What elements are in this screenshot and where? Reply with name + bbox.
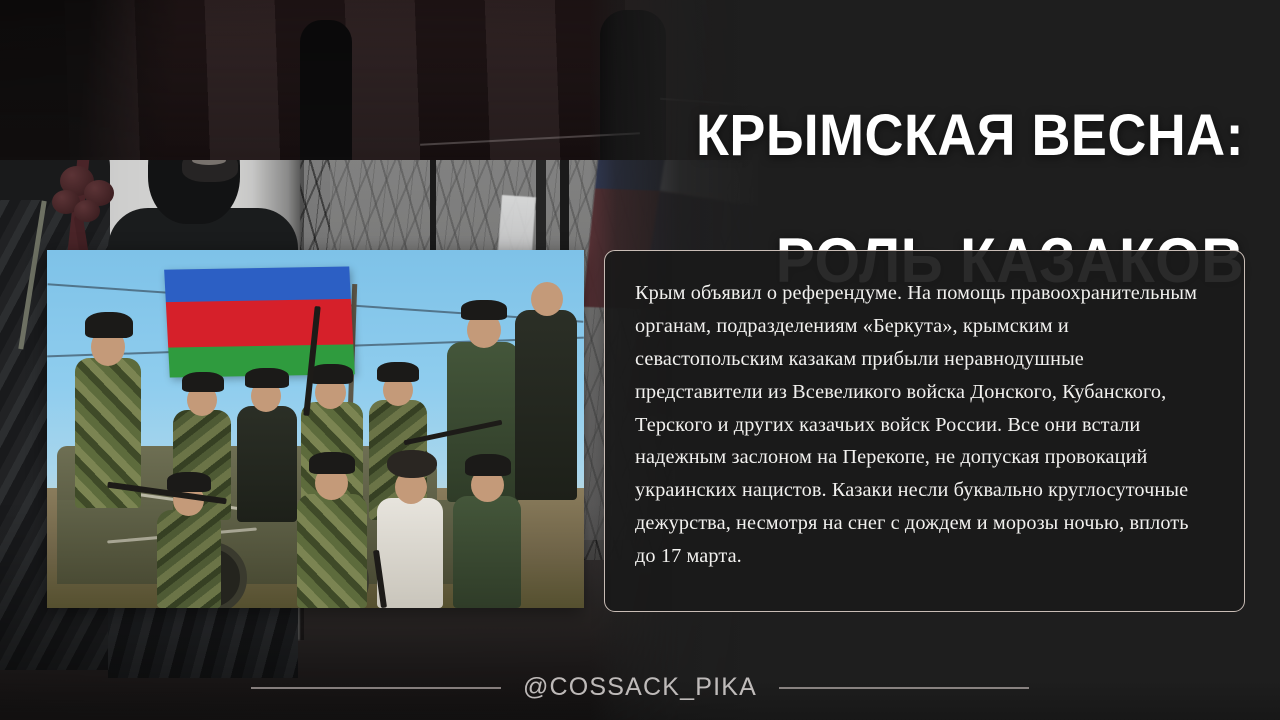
bottom-fade-overlay bbox=[0, 680, 1280, 720]
body-paragraph: Крым объявил о референдуме. На помощь пр… bbox=[635, 277, 1214, 573]
title-line-1: КРЫМСКАЯ ВЕСНА: bbox=[667, 105, 1244, 166]
inset-photo bbox=[47, 250, 584, 608]
don-cossack-flag bbox=[164, 266, 355, 377]
slide-root: КРЫМСКАЯ ВЕСНА: РОЛЬ КАЗАКОВ Крым объяви… bbox=[0, 0, 1280, 720]
body-text-box: Крым объявил о референдуме. На помощь пр… bbox=[604, 250, 1245, 612]
